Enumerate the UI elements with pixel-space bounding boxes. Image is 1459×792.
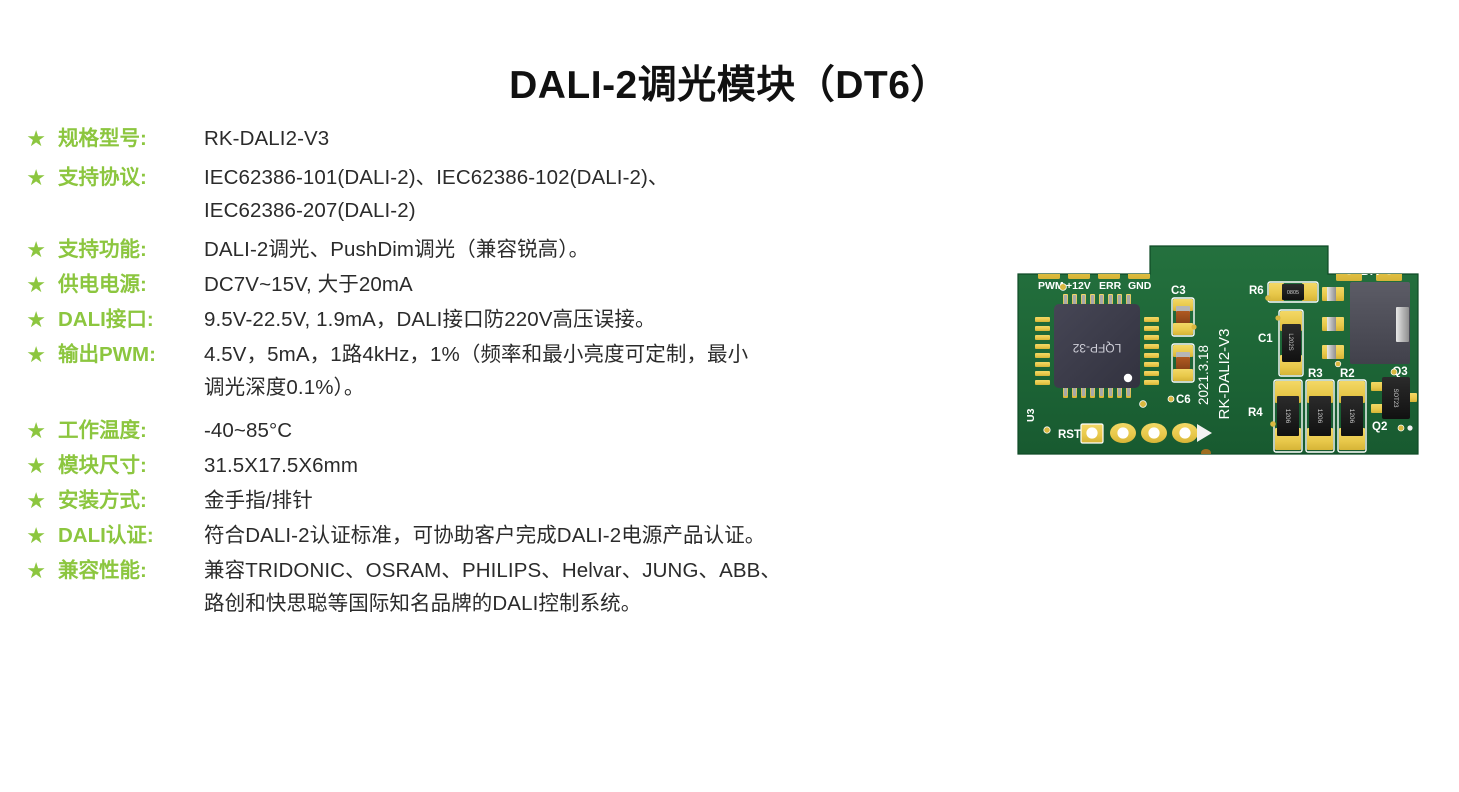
pcb-label-c3: C3 [1171, 285, 1186, 297]
pcb-illustration: PWM +12V ERR GND DA [1016, 232, 1420, 460]
spec-row-dimensions: ★ 模块尺寸: 31.5X17.5X6mm [0, 449, 1000, 482]
spec-label-dali-interface: DALI接口: [46, 303, 204, 336]
spec-value-line: 金手指/排针 [204, 484, 1000, 517]
spec-label-temperature: 工作温度: [46, 414, 204, 447]
star-icon: ★ [26, 340, 46, 370]
pcb-label-mcu-marking: LQFP-32 [1072, 341, 1121, 355]
spec-value-compatibility: 兼容TRIDONIC、OSRAM、PHILIPS、Helvar、JUNG、ABB… [204, 554, 1000, 620]
pcb-component-r6: 0805 [1268, 282, 1318, 302]
star-cell: ★ [0, 449, 46, 481]
spec-value-line: 符合DALI-2认证标准，可协助客户完成DALI-2电源产品认证。 [204, 519, 1000, 552]
spec-row-mounting: ★ 安装方式: 金手指/排针 [0, 484, 1000, 517]
star-icon: ★ [26, 235, 46, 265]
spec-value-line: RK-DALI2-V3 [204, 122, 1000, 155]
spec-label-certification: DALI认证: [46, 519, 204, 552]
spec-value-line: 4.5V，5mA，1路4kHz，1%（频率和最小亮度可定制，最小 [204, 338, 1000, 371]
star-icon: ★ [26, 270, 46, 300]
spec-row-certification: ★ DALI认证: 符合DALI-2认证标准，可协助客户完成DALI-2电源产品… [0, 519, 1000, 552]
pcb-component-opto [1350, 282, 1410, 364]
spec-label-dimensions: 模块尺寸: [46, 449, 204, 482]
spec-label-protocol: 支持协议: [46, 161, 204, 194]
star-icon: ★ [26, 486, 46, 516]
pcb-label-board-date: 2021.3.18 [1196, 345, 1211, 405]
spec-label-power: 供电电源: [46, 268, 204, 301]
spec-value-function: DALI-2调光、PushDim调光（兼容锐高）。 [204, 233, 1000, 266]
spec-value-dimensions: 31.5X17.5X6mm [204, 449, 1000, 482]
pcb-label-gnd: GND [1128, 280, 1152, 292]
pcb-label-err: ERR [1099, 280, 1122, 292]
pcb-cap-code: L202S [1287, 333, 1293, 350]
pcb-label-r3: R3 [1308, 368, 1323, 380]
star-cell: ★ [0, 268, 46, 300]
spec-value-line: 31.5X17.5X6mm [204, 449, 1000, 482]
spec-row-temperature: ★ 工作温度: -40~85°C [0, 414, 1000, 447]
pcb-label-12v: +12V [1066, 280, 1091, 292]
star-icon: ★ [26, 163, 46, 193]
spec-label-compatibility: 兼容性能: [46, 554, 204, 587]
pcb-res-code-1206: 1206 [1316, 409, 1323, 424]
star-cell: ★ [0, 161, 46, 193]
spec-value-line: 9.5V-22.5V, 1.9mA，DALI接口防220V高压误接。 [204, 303, 1000, 336]
star-icon: ★ [26, 416, 46, 446]
spec-value-line: 调光深度0.1%）。 [204, 371, 1000, 404]
pcb-res-code-0805: 0805 [1287, 290, 1299, 296]
spec-value-protocol: IEC62386-101(DALI-2)、IEC62386-102(DALI-2… [204, 161, 1000, 227]
pcb-label-da: DA [1361, 264, 1379, 278]
pcb-via [1044, 427, 1050, 433]
pcb-label-c1: C1 [1258, 333, 1273, 345]
pcb-label-r4: R4 [1248, 407, 1263, 419]
pcb-solder-blob [1201, 449, 1211, 457]
star-icon: ★ [26, 305, 46, 335]
spec-value-certification: 符合DALI-2认证标准，可协助客户完成DALI-2电源产品认证。 [204, 519, 1000, 552]
star-icon: ★ [26, 556, 46, 586]
spec-value-dali-interface: 9.5V-22.5V, 1.9mA，DALI接口防220V高压误接。 [204, 303, 1000, 336]
star-cell: ★ [0, 554, 46, 586]
pcb-component-r4: 1206 [1274, 380, 1302, 452]
pcb-label-c6: C6 [1176, 394, 1191, 406]
pcb-label-u3: U3 [1025, 408, 1037, 422]
pcb-product-image: PWM +12V ERR GND DA [1016, 232, 1420, 460]
pcb-component-c1: L202S [1279, 310, 1303, 376]
spec-value-line: DC7V~15V, 大于20mA [204, 268, 1000, 301]
pcb-label-r6: R6 [1249, 285, 1264, 297]
spec-value-line: -40~85°C [204, 414, 1000, 447]
pcb-pad-column [1322, 287, 1344, 359]
spec-row-dali-interface: ★ DALI接口: 9.5V-22.5V, 1.9mA，DALI接口防220V高… [0, 303, 1000, 336]
star-cell: ★ [0, 122, 46, 154]
spec-value-power: DC7V~15V, 大于20mA [204, 268, 1000, 301]
spec-value-line: IEC62386-101(DALI-2)、IEC62386-102(DALI-2… [204, 161, 1000, 194]
pcb-q2-code: SOT23 [1392, 388, 1398, 408]
spec-value-line: 兼容TRIDONIC、OSRAM、PHILIPS、Helvar、JUNG、ABB… [204, 554, 1000, 587]
spec-value-temperature: -40~85°C [204, 414, 1000, 447]
pcb-via [1168, 396, 1174, 402]
spec-value-model: RK-DALI2-V3 [204, 122, 1000, 155]
spec-value-pwm-output: 4.5V，5mA，1路4kHz，1%（频率和最小亮度可定制，最小 调光深度0.1… [204, 338, 1000, 404]
star-cell: ★ [0, 519, 46, 551]
pcb-via [1060, 284, 1067, 291]
star-icon: ★ [26, 521, 46, 551]
star-cell: ★ [0, 484, 46, 516]
pcb-testpoint-group [1081, 423, 1212, 443]
pcb-component-r2: 1206 [1338, 380, 1366, 452]
pcb-label-rst: RST [1058, 429, 1081, 441]
pcb-res-code-1206: 1206 [1284, 409, 1291, 424]
spec-row-protocol: ★ 支持协议: IEC62386-101(DALI-2)、IEC62386-10… [0, 161, 1000, 227]
spec-row-model: ★ 规格型号: RK-DALI2-V3 [0, 122, 1000, 155]
spec-value-mounting: 金手指/排针 [204, 484, 1000, 517]
spec-label-function: 支持功能: [46, 233, 204, 266]
spec-row-power: ★ 供电电源: DC7V~15V, 大于20mA [0, 268, 1000, 301]
spec-label-mounting: 安装方式: [46, 484, 204, 517]
pcb-via [1140, 401, 1147, 408]
pcb-component-r3: 1206 [1306, 380, 1334, 452]
spec-row-compatibility: ★ 兼容性能: 兼容TRIDONIC、OSRAM、PHILIPS、Helvar、… [0, 554, 1000, 620]
star-cell: ★ [0, 233, 46, 265]
star-icon: ★ [26, 124, 46, 154]
spec-list: ★ 规格型号: RK-DALI2-V3 ★ 支持协议: IEC62386-101… [0, 122, 1000, 623]
spec-label-model: 规格型号: [46, 122, 204, 155]
spec-label-pwm-output: 输出PWM: [46, 338, 204, 371]
pcb-label-r2: R2 [1340, 368, 1355, 380]
star-cell: ★ [0, 303, 46, 335]
page-title: DALI-2调光模块（DT6） [0, 54, 1459, 110]
star-cell: ★ [0, 414, 46, 446]
spec-row-function: ★ 支持功能: DALI-2调光、PushDim调光（兼容锐高）。 [0, 233, 1000, 266]
spec-value-line: 路创和快思聪等国际知名品牌的DALI控制系统。 [204, 587, 1000, 620]
spec-value-line: DALI-2调光、PushDim调光（兼容锐高）。 [204, 233, 1000, 266]
spec-value-line: IEC62386-207(DALI-2) [204, 194, 1000, 227]
pcb-label-board-name: RK-DALI2-V3 [1216, 329, 1233, 420]
pcb-res-code-1206: 1206 [1348, 409, 1355, 424]
pcb-label-q2: Q2 [1372, 421, 1387, 433]
star-icon: ★ [26, 451, 46, 481]
spec-row-pwm-output: ★ 输出PWM: 4.5V，5mA，1路4kHz，1%（频率和最小亮度可定制，最… [0, 338, 1000, 404]
star-cell: ★ [0, 338, 46, 370]
